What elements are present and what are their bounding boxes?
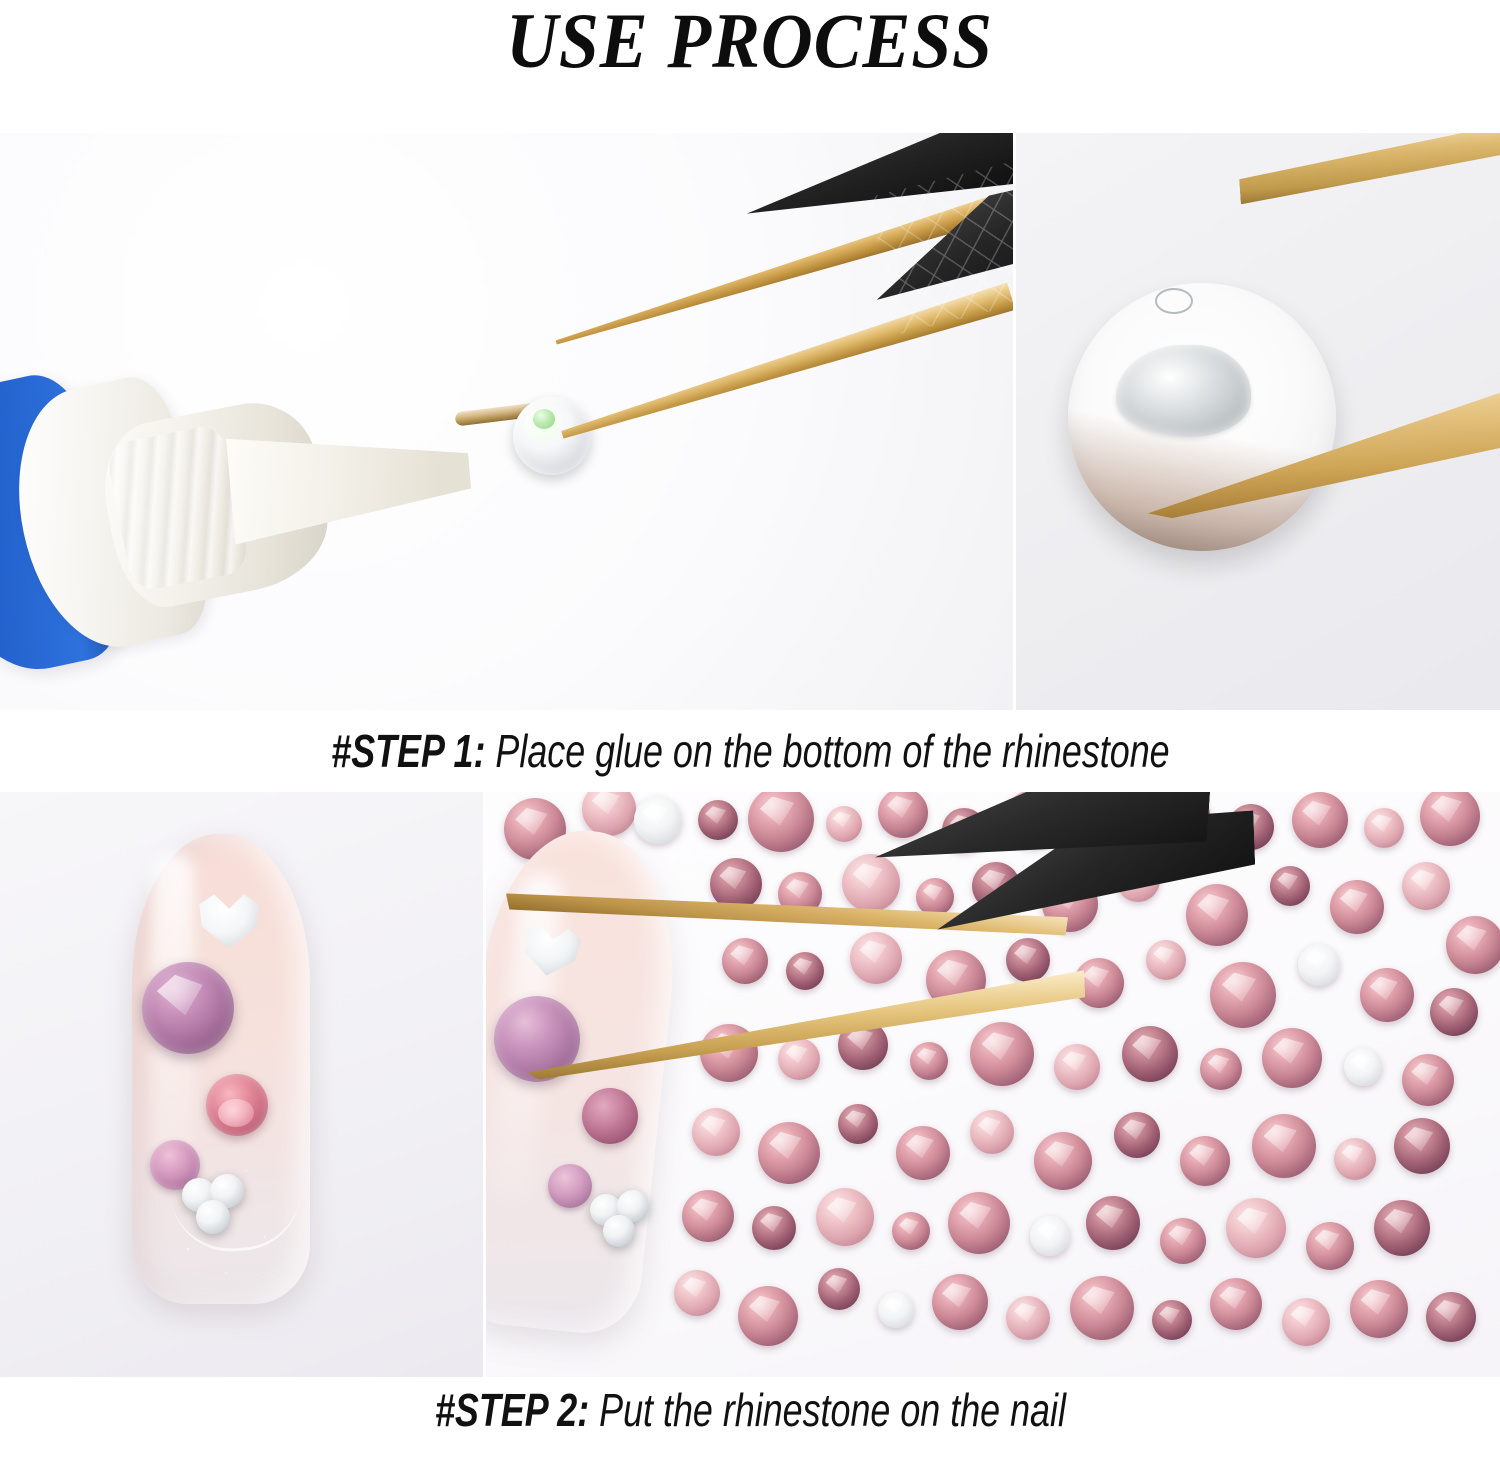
step-2-caption: #STEP 2: Put the rhinestone on the nail xyxy=(0,1377,1500,1443)
scatter-rhinestone xyxy=(1446,916,1500,974)
scatter-rhinestone xyxy=(1364,808,1404,848)
scatter-rhinestone xyxy=(826,806,862,842)
rhinestone-medium-pink xyxy=(582,1088,638,1144)
scatter-rhinestone xyxy=(682,1190,734,1242)
scatter-rhinestone xyxy=(692,1108,740,1156)
scatter-rhinestone xyxy=(1270,866,1310,906)
panel-placing-stone xyxy=(486,792,1500,1377)
scatter-rhinestone xyxy=(786,952,824,990)
step-1-caption: #STEP 1: Place glue on the bottom of the… xyxy=(0,710,1500,792)
scatter-rhinestone xyxy=(1252,1114,1316,1178)
scatter-rhinestone xyxy=(1402,1054,1454,1106)
scatter-rhinestone xyxy=(698,800,738,840)
scatter-rhinestone xyxy=(738,1286,798,1346)
crystal-cluster xyxy=(182,1174,248,1236)
scatter-rhinestone xyxy=(1006,938,1050,982)
scatter-rhinestone xyxy=(722,938,768,984)
scatter-rhinestone xyxy=(1360,968,1414,1022)
scatter-rhinestone xyxy=(1160,1218,1206,1264)
scatter-rhinestone xyxy=(1226,1198,1286,1258)
scatter-rhinestone xyxy=(878,792,928,838)
scatter-rhinestone xyxy=(842,854,900,912)
rhinestone-medium-pink xyxy=(206,1074,268,1136)
scatter-rhinestone xyxy=(1086,1196,1140,1250)
scatter-rhinestone xyxy=(758,1122,820,1184)
panel-glue-closeup xyxy=(1016,133,1500,710)
scatter-rhinestone xyxy=(850,932,902,984)
step-1-photo-row xyxy=(0,133,1500,710)
scatter-rhinestone xyxy=(1420,792,1480,846)
scatter-rhinestone xyxy=(1298,944,1340,986)
scatter-rhinestone xyxy=(1034,1132,1092,1190)
scatter-rhinestone xyxy=(1210,1278,1262,1330)
scatter-rhinestone xyxy=(752,1206,796,1250)
panel-finished-nail xyxy=(0,792,486,1377)
scatter-rhinestone xyxy=(1402,862,1450,910)
scatter-rhinestone xyxy=(1292,792,1348,848)
scatter-rhinestone xyxy=(710,858,762,910)
scatter-rhinestone xyxy=(1394,1118,1450,1174)
scatter-rhinestone xyxy=(1344,1048,1382,1086)
crystal-cluster xyxy=(590,1190,654,1250)
scatter-rhinestone xyxy=(1306,1222,1354,1270)
scatter-rhinestone xyxy=(1350,1280,1408,1338)
scatter-rhinestone xyxy=(1282,1298,1330,1346)
step-1-label: #STEP 1: xyxy=(331,725,485,777)
scatter-rhinestone xyxy=(1186,884,1248,946)
scatter-rhinestone xyxy=(1114,1112,1160,1158)
scatter-rhinestone xyxy=(948,1192,1010,1254)
rhinestone-large-mauve xyxy=(142,962,234,1054)
scatter-rhinestone xyxy=(634,796,682,844)
scatter-rhinestone xyxy=(1152,1300,1192,1340)
scatter-rhinestone xyxy=(1006,1296,1050,1340)
scatter-rhinestone xyxy=(1374,1200,1430,1256)
cluster-stone xyxy=(603,1215,635,1247)
scatter-rhinestone xyxy=(932,1274,988,1330)
scatter-rhinestone xyxy=(970,1110,1014,1154)
step-1-text: Place glue on the bottom of the rhinesto… xyxy=(485,725,1169,777)
scatter-rhinestone xyxy=(916,878,954,916)
scatter-rhinestone xyxy=(818,1268,860,1310)
scatter-rhinestone xyxy=(1430,988,1478,1036)
scatter-rhinestone xyxy=(778,1038,820,1080)
scatter-rhinestone xyxy=(896,1126,950,1180)
scatter-rhinestone xyxy=(1122,1026,1178,1082)
scatter-rhinestone xyxy=(1200,1048,1242,1090)
scatter-rhinestone xyxy=(1070,1276,1134,1340)
scatter-rhinestone xyxy=(878,1292,914,1328)
scatter-rhinestone xyxy=(838,1104,878,1144)
scatter-rhinestone xyxy=(1262,1028,1322,1088)
scatter-rhinestone xyxy=(1210,962,1276,1028)
scatter-rhinestone xyxy=(1030,1216,1070,1256)
scatter-rhinestone xyxy=(1180,1136,1230,1186)
scatter-rhinestone xyxy=(1054,1044,1100,1090)
panel-glue-applicator xyxy=(0,133,1016,710)
scatter-rhinestone xyxy=(910,1042,948,1080)
page-title-bar: USE PROCESS xyxy=(0,0,1500,133)
glue-blob xyxy=(1116,345,1251,437)
scatter-rhinestone xyxy=(582,792,636,836)
scatter-rhinestone xyxy=(674,1270,720,1316)
scatter-rhinestone xyxy=(816,1188,874,1246)
cluster-stone xyxy=(196,1200,230,1234)
step-2-text: Put the rhinestone on the nail xyxy=(589,1384,1066,1436)
scatter-rhinestone xyxy=(1330,880,1384,934)
scatter-rhinestone xyxy=(1426,1292,1476,1342)
rhinestone-small-pink xyxy=(548,1164,592,1208)
scatter-rhinestone xyxy=(1146,940,1186,980)
scatter-rhinestone xyxy=(970,1022,1034,1086)
glue-droplet xyxy=(533,409,555,429)
page-title: USE PROCESS xyxy=(507,2,994,80)
rhinestone-held xyxy=(513,397,591,475)
scatter-rhinestone xyxy=(1334,1138,1376,1180)
scatter-rhinestone xyxy=(748,792,814,852)
glue-bubble xyxy=(1155,288,1193,314)
step-2-label: #STEP 2: xyxy=(435,1384,589,1436)
step-2-photo-row xyxy=(0,792,1500,1377)
scatter-rhinestone xyxy=(892,1212,930,1250)
